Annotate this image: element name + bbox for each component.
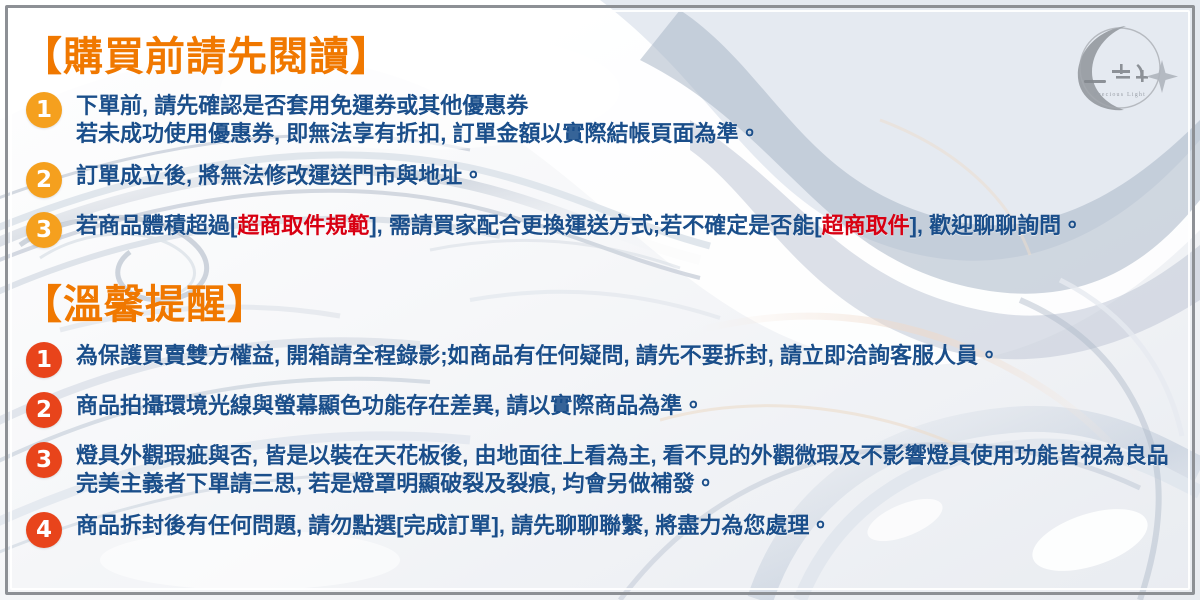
item-number-badge: 3 (26, 442, 62, 478)
item-line: 若未成功使用優惠券, 即無法享有折扣, 訂單金額以實際結帳頁面為準。 (76, 120, 760, 148)
notice-item: 3 若商品體積超過[超商取件規範], 需請買家配合更換運送方式;若不確定是否能[… (26, 212, 1083, 248)
poster-canvas: Precious Light 【購買前請先閱讀】 1 下單前, 請先確認是否套用… (0, 0, 1200, 600)
item-line: 為保護買賣雙方權益, 開箱請全程錄影;如商品有任何疑問, 請先不要拆封, 請立即… (76, 342, 1000, 370)
item-line: 下單前, 請先確認是否套用免運券或其他優惠券 (76, 92, 760, 120)
item-text-block: 為保護買賣雙方權益, 開箱請全程錄影;如商品有任何疑問, 請先不要拆封, 請立即… (76, 342, 1000, 370)
item-number-badge: 1 (26, 92, 62, 128)
notice-content: 【購買前請先閱讀】 1 下單前, 請先確認是否套用免運券或其他優惠券 若未成功使… (0, 0, 1200, 600)
notice-item: 2 訂單成立後, 將無法修改運送門市與地址。 (26, 162, 484, 198)
item-text-block: 商品拆封後有任何問題, 請勿點選[完成訂單], 請先聊聊聯繫, 將盡力為您處理。 (76, 512, 831, 540)
item-number-badge: 3 (26, 212, 62, 248)
highlight-text: 超商取件 (822, 213, 910, 238)
item-text-block: 燈具外觀瑕疵與否, 皆是以裝在天花板後, 由地面往上看為主, 看不見的外觀微瑕及… (76, 442, 1169, 498)
item-number-badge: 2 (26, 392, 62, 428)
item-number-badge: 1 (26, 342, 62, 378)
item-line: 燈具外觀瑕疵與否, 皆是以裝在天花板後, 由地面往上看為主, 看不見的外觀微瑕及… (76, 442, 1169, 470)
section-heading-friendly-reminder: 【溫馨提醒】 (22, 272, 268, 330)
item-number-badge: 2 (26, 162, 62, 198)
notice-item: 2 商品拍攝環境光線與螢幕顯色功能存在差異, 請以實際商品為準。 (26, 392, 704, 428)
item-line: 商品拆封後有任何問題, 請勿點選[完成訂單], 請先聊聊聯繫, 將盡力為您處理。 (76, 512, 831, 540)
notice-item: 1 為保護買賣雙方權益, 開箱請全程錄影;如商品有任何疑問, 請先不要拆封, 請… (26, 342, 1000, 378)
item-text-block: 商品拍攝環境光線與螢幕顯色功能存在差異, 請以實際商品為準。 (76, 392, 704, 420)
item-number-badge: 4 (26, 512, 62, 548)
item-text-block: 訂單成立後, 將無法修改運送門市與地址。 (76, 162, 484, 190)
item-text-block: 下單前, 請先確認是否套用免運券或其他優惠券 若未成功使用優惠券, 即無法享有折… (76, 92, 760, 148)
item-line: 若商品體積超過[超商取件規範], 需請買家配合更換運送方式;若不確定是否能[超商… (76, 212, 1083, 240)
section-heading-before-purchase: 【購買前請先閱讀】 (22, 24, 391, 82)
notice-item: 4 商品拆封後有任何問題, 請勿點選[完成訂單], 請先聊聊聯繫, 將盡力為您處… (26, 512, 831, 548)
highlight-text: 超商取件規範 (237, 213, 369, 238)
notice-item: 1 下單前, 請先確認是否套用免運券或其他優惠券 若未成功使用優惠券, 即無法享… (26, 92, 760, 148)
item-text-block: 若商品體積超過[超商取件規範], 需請買家配合更換運送方式;若不確定是否能[超商… (76, 212, 1083, 240)
item-line: 商品拍攝環境光線與螢幕顯色功能存在差異, 請以實際商品為準。 (76, 392, 704, 420)
notice-item: 3 燈具外觀瑕疵與否, 皆是以裝在天花板後, 由地面往上看為主, 看不見的外觀微… (26, 442, 1169, 498)
item-line: 訂單成立後, 將無法修改運送門市與地址。 (76, 162, 484, 190)
item-line: 完美主義者下單請三思, 若是燈罩明顯破裂及裂痕, 均會另做補發。 (76, 470, 1169, 498)
